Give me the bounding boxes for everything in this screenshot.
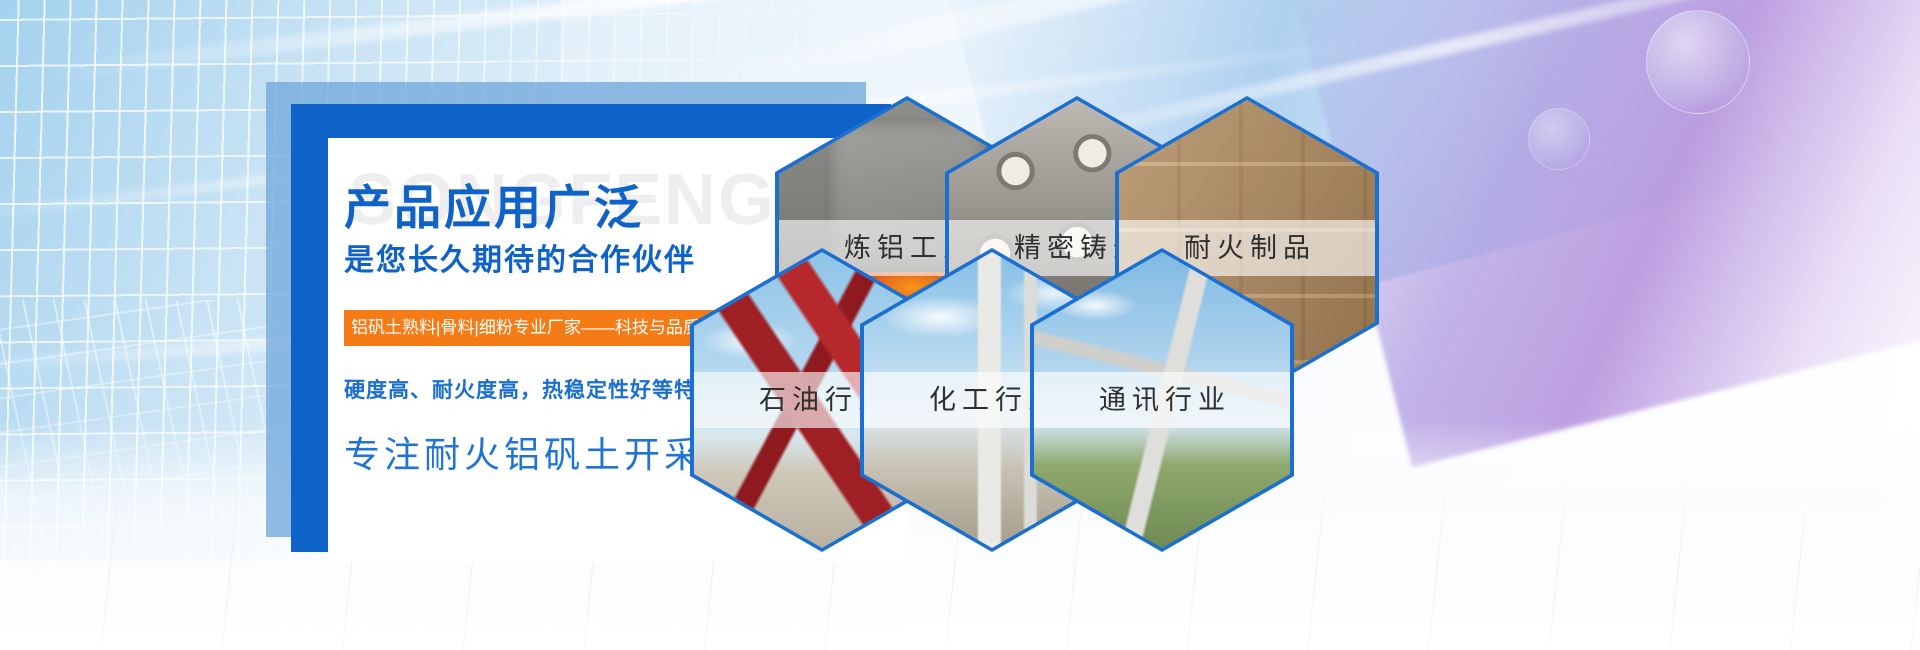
hexagon-grid: 炼铝工业 精密铸造 耐火制品 石油行业 化工行业 xyxy=(0,0,1920,650)
hex-label: 通讯行业 xyxy=(1034,372,1290,428)
banner-stage: SONGFENG 产品应用广泛 是您长久期待的合作伙伴 铝矾土熟料|骨料|细粉专… xyxy=(0,0,1920,650)
